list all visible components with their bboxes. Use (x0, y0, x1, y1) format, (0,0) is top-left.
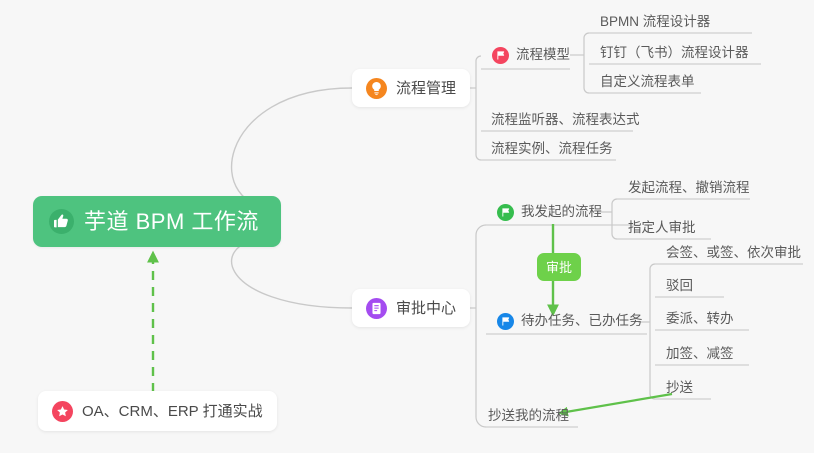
node-label: 发起流程、撤销流程 (628, 181, 750, 195)
node-label: 委派、转办 (666, 312, 734, 326)
node-countersign[interactable]: 会签、或签、依次审批 (664, 238, 805, 268)
node-label: 自定义流程表单 (600, 75, 695, 89)
node-label: OA、CRM、ERP 打通实战 (82, 404, 263, 419)
node-label: 流程实例、流程任务 (491, 142, 613, 156)
thumbs-up-icon (49, 209, 74, 234)
node-bpmn-designer[interactable]: BPMN 流程设计器 (598, 7, 714, 37)
node-listener-expression[interactable]: 流程监听器、流程表达式 (489, 105, 644, 135)
node-approval-center[interactable]: 审批中心 (352, 289, 470, 327)
arrow-cc-to-myflow (560, 394, 672, 413)
node-label: 加签、减签 (666, 347, 734, 361)
node-process-model[interactable]: 流程模型 (490, 40, 574, 70)
node-label: 流程监听器、流程表达式 (491, 113, 640, 127)
node-label: 我发起的流程 (521, 205, 602, 219)
node-label: 流程管理 (396, 81, 456, 96)
node-label: 抄送我的流程 (488, 409, 569, 423)
node-custom-form[interactable]: 自定义流程表单 (598, 67, 699, 97)
node-label: 驳回 (666, 279, 693, 293)
root-label: 芋道 BPM 工作流 (84, 211, 259, 233)
node-label: BPMN 流程设计器 (600, 15, 710, 29)
star-icon (52, 401, 73, 422)
node-label: 指定人审批 (628, 221, 696, 235)
node-label: 待办任务、已办任务 (521, 314, 643, 328)
node-add-remove-sign[interactable]: 加签、减签 (664, 339, 738, 369)
lightbulb-icon (366, 78, 387, 99)
node-label: 会签、或签、依次审批 (666, 246, 801, 260)
node-start-cancel[interactable]: 发起流程、撤销流程 (626, 173, 754, 203)
node-cc-to-me[interactable]: 抄送我的流程 (486, 401, 573, 431)
node-process-management[interactable]: 流程管理 (352, 69, 470, 107)
link-todo-bracket (650, 264, 655, 399)
node-dingtalk-designer[interactable]: 钉钉（飞书）流程设计器 (598, 38, 753, 68)
link-pm-bracket (476, 56, 481, 160)
node-todo-done[interactable]: 待办任务、已办任务 (495, 306, 647, 336)
link-ac-bracket (476, 225, 486, 427)
document-icon (366, 298, 387, 319)
node-instance-task[interactable]: 流程实例、流程任务 (489, 134, 617, 164)
flag-red-icon (492, 47, 509, 64)
node-reject[interactable]: 驳回 (664, 271, 697, 301)
mindmap-canvas: 芋道 BPM 工作流 流程管理 流程模型 BPMN 流程设计器 钉钉（飞书）流程… (0, 0, 814, 453)
node-delegate-transfer[interactable]: 委派、转办 (664, 304, 738, 334)
link-root-to-process-management (232, 88, 352, 210)
badge-label: 审批 (546, 261, 572, 274)
node-my-started[interactable]: 我发起的流程 (495, 197, 606, 227)
node-label: 抄送 (666, 381, 693, 395)
node-label: 钉钉（飞书）流程设计器 (600, 46, 749, 60)
node-label: 审批中心 (396, 301, 456, 316)
node-integration-note[interactable]: OA、CRM、ERP 打通实战 (38, 391, 277, 431)
approval-badge[interactable]: 审批 (537, 253, 581, 281)
flag-green-icon (497, 204, 514, 221)
flag-blue-icon (497, 313, 514, 330)
link-pmodel-bracket (584, 33, 589, 93)
root-node[interactable]: 芋道 BPM 工作流 (33, 196, 281, 247)
link-mystarted-bracket (612, 199, 617, 239)
node-label: 流程模型 (516, 48, 570, 62)
node-cc[interactable]: 抄送 (664, 373, 697, 403)
